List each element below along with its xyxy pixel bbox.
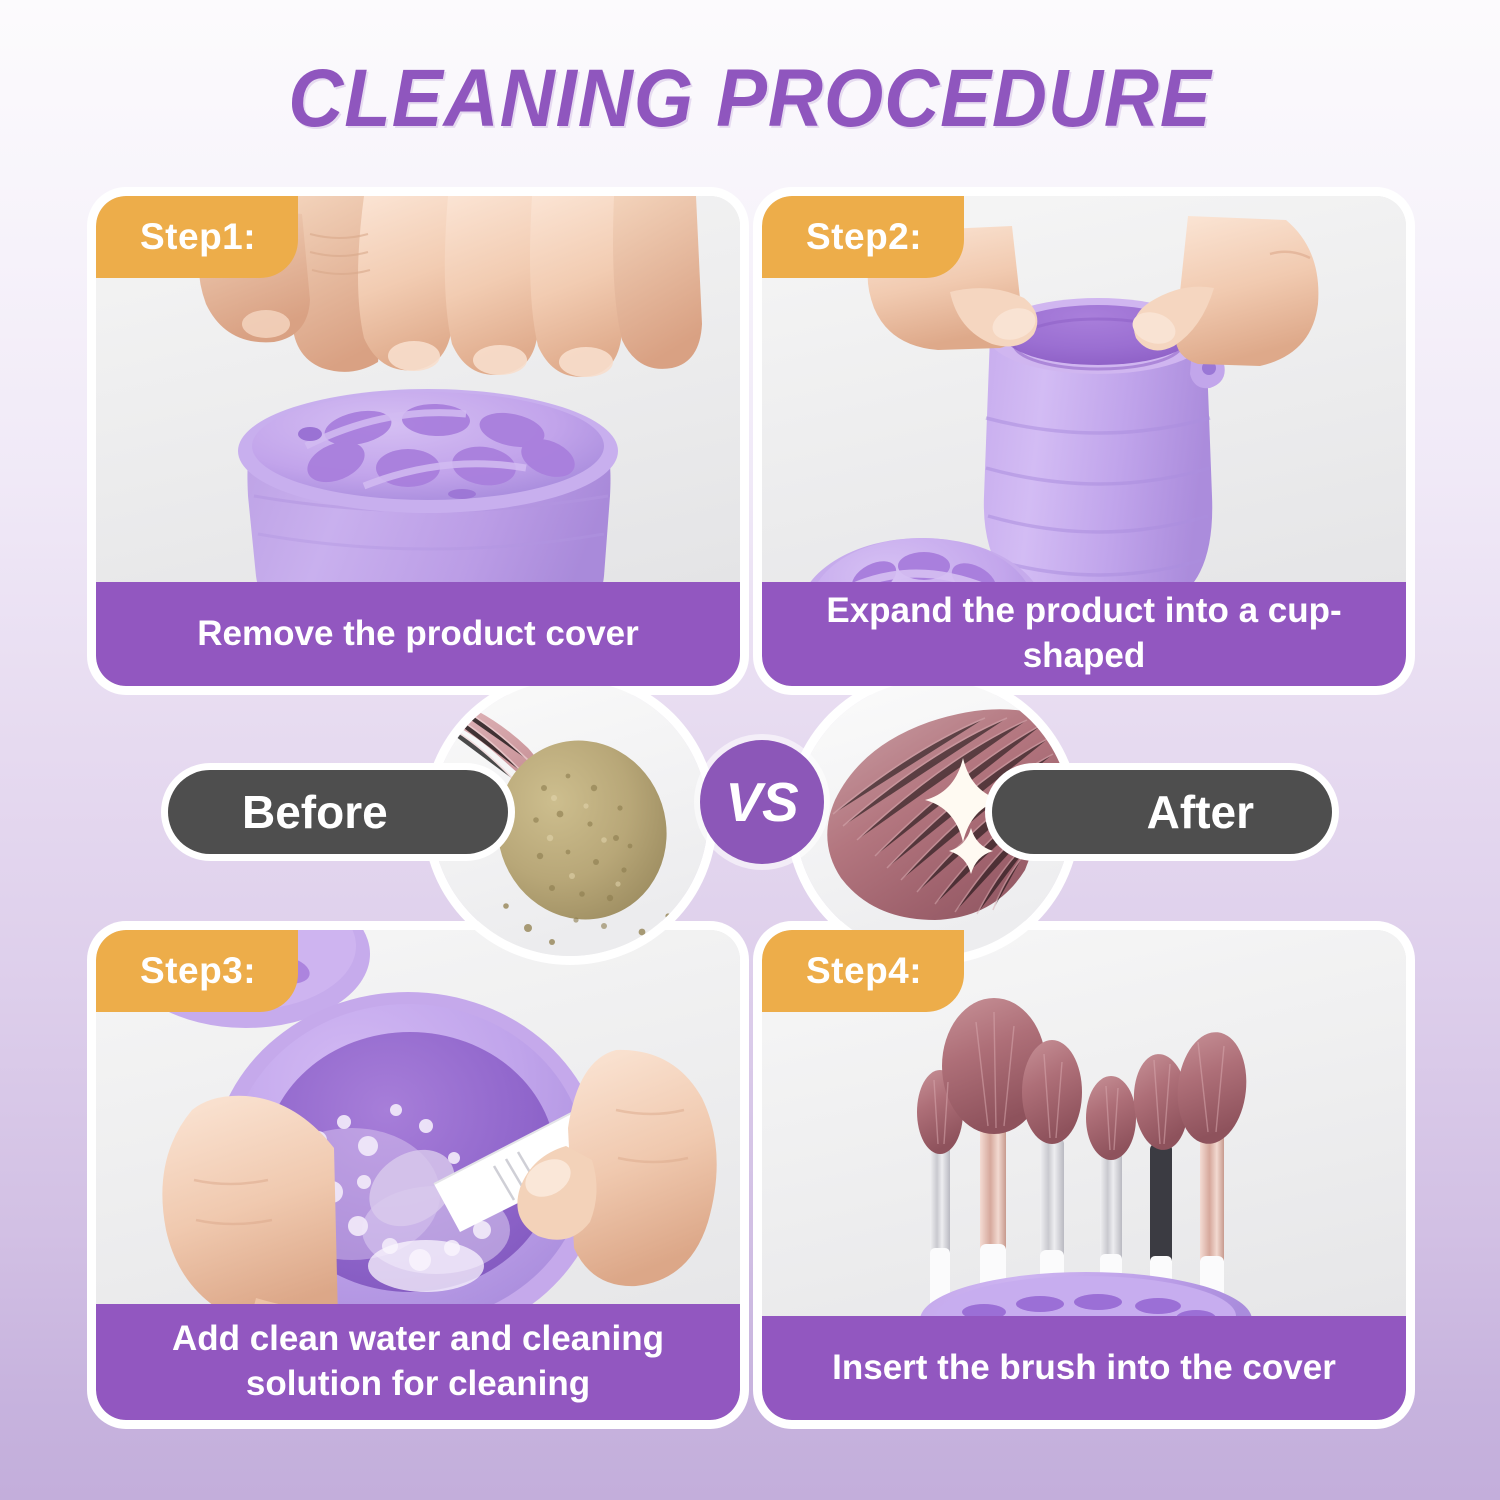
vs-label-text: VS — [725, 770, 798, 834]
step-card-2: Step2: Expand the product into a cup-sha… — [762, 196, 1406, 686]
vs-badge: VS — [700, 740, 824, 864]
step-2-badge: Step2: — [762, 196, 964, 278]
step-4-caption: Insert the brush into the cover — [762, 1316, 1406, 1420]
step-3-caption: Add clean water and cleaning solution fo… — [96, 1304, 740, 1420]
after-label-pill: After — [992, 770, 1332, 854]
step-card-4: Step4: Insert the brush into the cover — [762, 930, 1406, 1420]
after-label-text: After — [1147, 785, 1254, 839]
before-label-text: Before — [242, 785, 388, 839]
before-label-pill: Before — [168, 770, 508, 854]
step-card-1: Step1: Remove the product cover — [96, 196, 740, 686]
step-card-3: Step3: Add clean water and cleaning solu… — [96, 930, 740, 1420]
step-1-badge: Step1: — [96, 196, 298, 278]
page-title: CLEANING PROCEDURE — [53, 58, 1448, 140]
